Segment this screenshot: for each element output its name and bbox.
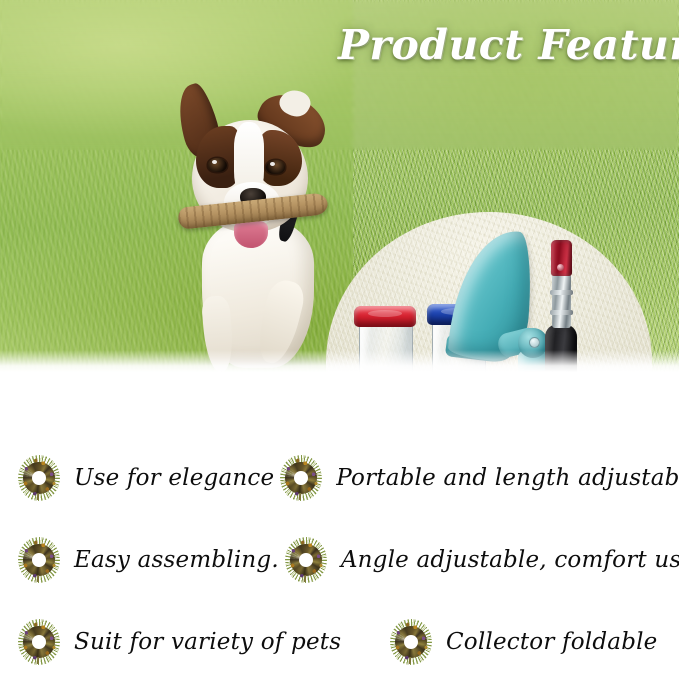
page-title: Product Features [338,22,664,69]
container-lid-red [354,306,416,327]
hero-banner: Product Features [0,0,679,372]
feature-label: Easy assembling. [74,549,279,572]
feature-item: Use for elegance [0,455,274,501]
hero-bottom-fade [0,350,679,372]
floral-wreath-icon [280,455,322,501]
floral-wreath-icon [390,619,432,665]
feature-row: Easy assembling. Angle adjustable, comfo… [0,524,679,596]
feature-list: Use for elegance Portable and length adj… [0,430,679,669]
feature-label: Portable and length adjustable [336,467,679,490]
product-showcase-panel [326,212,652,372]
floral-wreath-icon [18,455,60,501]
handle-top-cap [551,240,572,276]
handle-lock-ring-upper [550,290,573,295]
feature-item: Easy assembling. [0,537,279,583]
feature-item: Angle adjustable, comfort use [279,537,679,583]
feature-label: Angle adjustable, comfort use [341,549,679,572]
dog-eye-left [208,158,227,172]
dog-eye-right [266,160,285,174]
feature-label: Use for elegance [74,467,274,490]
handle-telescopic-shaft [552,274,571,328]
feature-item: Portable and length adjustable [274,455,679,501]
floral-wreath-icon [18,619,60,665]
floral-wreath-icon [285,537,327,583]
feature-row: Use for elegance Portable and length adj… [0,442,679,514]
feature-label: Collector foldable [446,631,658,654]
feature-label: Suit for variety of pets [74,631,341,654]
hinge-pin-icon [529,337,540,348]
floral-wreath-icon [18,537,60,583]
feature-row: Suit for variety of pets Collector folda… [0,606,679,678]
handle-lock-ring-lower [550,310,573,315]
feature-item: Collector foldable [318,619,658,665]
feature-item: Suit for variety of pets [0,619,318,665]
